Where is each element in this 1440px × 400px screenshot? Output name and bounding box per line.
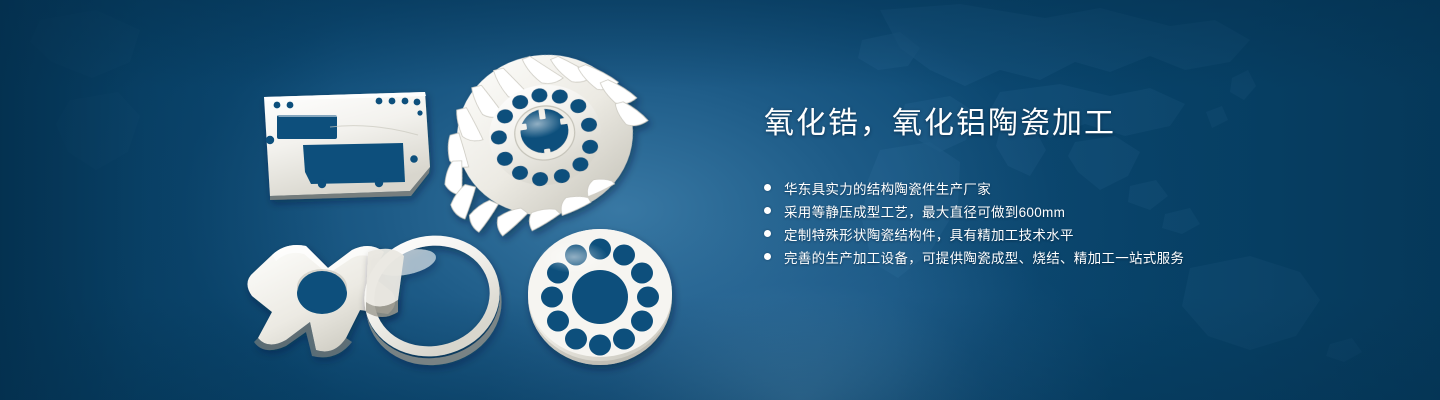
list-item: 采用等静压成型工艺，最大直径可做到600mm (764, 199, 1384, 222)
feature-list: 华东具实力的结构陶瓷件生产厂家 采用等静压成型工艺，最大直径可做到600mm 定… (764, 176, 1384, 268)
bullet-dot-icon (764, 207, 771, 214)
page-title: 氧化锆，氧化铝陶瓷加工 (764, 106, 1384, 142)
feature-text: 完善的生产加工设备，可提供陶瓷成型、烧结、精加工一站式服务 (784, 247, 1184, 267)
feature-text: 华东具实力的结构陶瓷件生产厂家 (784, 178, 991, 198)
ceramic-processing-banner: 氧化锆，氧化铝陶瓷加工 华东具实力的结构陶瓷件生产厂家 采用等静压成型工艺，最大… (0, 0, 1440, 400)
banner-copy: 氧化锆，氧化铝陶瓷加工 华东具实力的结构陶瓷件生产厂家 采用等静压成型工艺，最大… (764, 106, 1384, 268)
bullet-dot-icon (764, 184, 771, 191)
bullet-dot-icon (764, 253, 771, 260)
list-item: 完善的生产加工设备，可提供陶瓷成型、烧结、精加工一站式服务 (764, 245, 1384, 268)
feature-text: 采用等静压成型工艺，最大直径可做到600mm (784, 201, 1065, 221)
bullet-dot-icon (764, 230, 771, 237)
feature-text: 定制特殊形状陶瓷结构件，具有精加工技术水平 (784, 224, 1074, 244)
list-item: 华东具实力的结构陶瓷件生产厂家 (764, 176, 1384, 199)
list-item: 定制特殊形状陶瓷结构件，具有精加工技术水平 (764, 222, 1384, 245)
